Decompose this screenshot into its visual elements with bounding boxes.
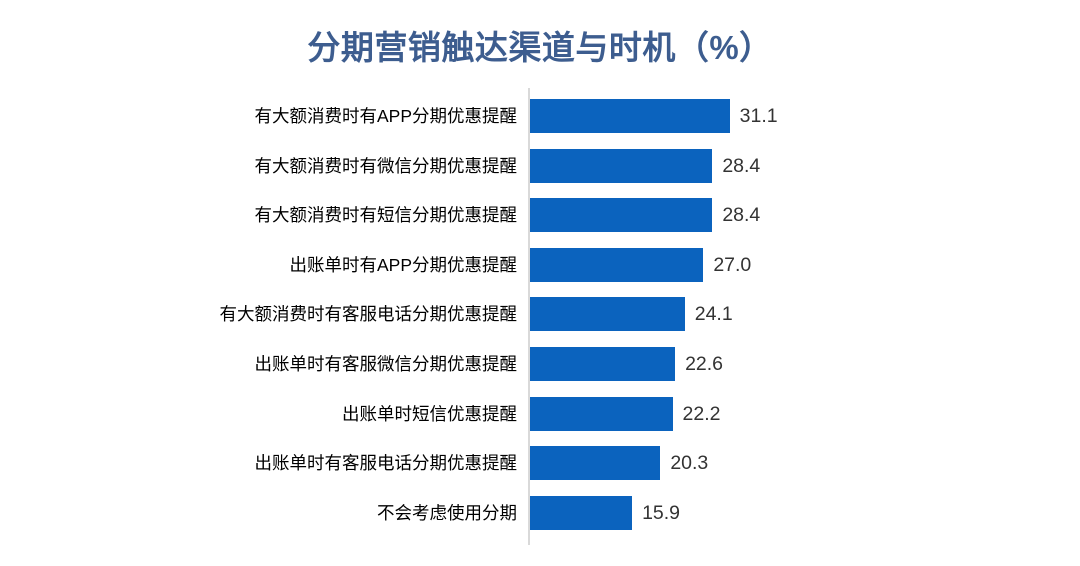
bar-row: 有大额消费时有微信分期优惠提醒28.4 (0, 149, 1080, 183)
bar-row: 有大额消费时有短信分期优惠提醒28.4 (0, 198, 1080, 232)
bar-row: 出账单时有客服微信分期优惠提醒22.6 (0, 347, 1080, 381)
bar-value-label: 31.1 (740, 99, 778, 133)
bar-row: 不会考虑使用分期15.9 (0, 496, 1080, 530)
bar-category-label: 出账单时有客服电话分期优惠提醒 (140, 446, 517, 480)
bar-value-label: 22.6 (685, 347, 723, 381)
bar-value-label: 15.9 (642, 496, 680, 530)
bar-value-label: 24.1 (695, 297, 733, 331)
bar-chart: 分期营销触达渠道与时机（%） 有大额消费时有APP分期优惠提醒31.1有大额消费… (0, 0, 1080, 566)
bar-category-label: 有大额消费时有短信分期优惠提醒 (140, 198, 517, 232)
bar (530, 248, 703, 282)
bar (530, 496, 632, 530)
bar-row: 出账单时有APP分期优惠提醒27.0 (0, 248, 1080, 282)
bar (530, 446, 660, 480)
bar (530, 99, 730, 133)
bar (530, 149, 712, 183)
bar-row: 出账单时有客服电话分期优惠提醒20.3 (0, 446, 1080, 480)
bar-category-label: 出账单时有客服微信分期优惠提醒 (140, 347, 517, 381)
bar-value-label: 27.0 (713, 248, 751, 282)
bar-category-label: 有大额消费时有客服电话分期优惠提醒 (140, 297, 517, 331)
plot-area: 有大额消费时有APP分期优惠提醒31.1有大额消费时有微信分期优惠提醒28.4有… (0, 0, 1080, 566)
bar (530, 347, 675, 381)
bar-row: 有大额消费时有APP分期优惠提醒31.1 (0, 99, 1080, 133)
bar-category-label: 出账单时有APP分期优惠提醒 (140, 248, 517, 282)
bar-category-label: 有大额消费时有APP分期优惠提醒 (140, 99, 517, 133)
bar-value-label: 22.2 (683, 397, 721, 431)
bar (530, 198, 712, 232)
bar (530, 297, 685, 331)
bar-category-label: 出账单时短信优惠提醒 (140, 397, 517, 431)
bar-row: 有大额消费时有客服电话分期优惠提醒24.1 (0, 297, 1080, 331)
bar-value-label: 20.3 (670, 446, 708, 480)
bar-value-label: 28.4 (722, 198, 760, 232)
bar-category-label: 不会考虑使用分期 (140, 496, 517, 530)
bar-row: 出账单时短信优惠提醒22.2 (0, 397, 1080, 431)
bar-category-label: 有大额消费时有微信分期优惠提醒 (140, 149, 517, 183)
bar (530, 397, 673, 431)
bar-value-label: 28.4 (722, 149, 760, 183)
